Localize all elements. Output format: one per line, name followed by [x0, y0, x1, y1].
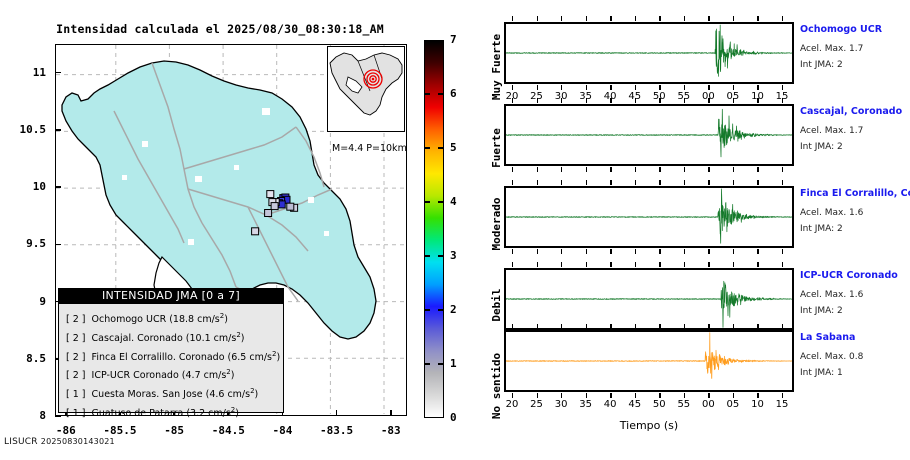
time-tick — [684, 262, 685, 267]
map-x-tick-label: -84.5 — [198, 424, 258, 437]
map-x-tick-label: -83.5 — [307, 424, 367, 437]
time-tick — [512, 262, 513, 267]
time-tick — [782, 262, 783, 267]
time-tick — [782, 167, 783, 172]
magnitude-depth-label: M=4.4 P=10km — [332, 143, 407, 154]
time-tick — [659, 324, 660, 329]
colorbar-category-label: Debil — [490, 288, 503, 321]
legend-jma-value: [ 2 ] — [66, 333, 86, 344]
time-tick — [586, 85, 587, 90]
legend-row: [ 1 ] Cuesta Moras. San Jose (4.6 cm/s2) — [59, 384, 283, 403]
map-y-tick-label: 8 — [0, 409, 46, 422]
legend-accel-value: (4.6 cm/s2) — [203, 389, 259, 400]
time-tick — [561, 16, 562, 21]
legend-station-name: Ochomogo UCR — [92, 314, 167, 325]
colorbar-tick-label: 2 — [450, 303, 464, 316]
legend-header: INTENSIDAD JMA [0 a 7] — [58, 288, 284, 304]
intensity-legend[interactable]: [ 2 ] Ochomogo UCR (18.8 cm/s2)[ 2 ] Cas… — [58, 303, 284, 413]
waveform-panel[interactable] — [504, 104, 794, 166]
colorbar-tick — [438, 309, 444, 310]
waveform-jma-intensity: Int JMA: 2 — [800, 142, 843, 152]
time-tick — [708, 393, 709, 398]
time-tick — [512, 249, 513, 254]
map-x-tick-label: -85.5 — [90, 424, 150, 437]
time-tick — [610, 167, 611, 172]
map-y-tick-label: 10.5 — [0, 123, 46, 136]
time-tick — [512, 167, 513, 172]
map-y-tick — [55, 244, 61, 246]
time-tick — [610, 262, 611, 267]
time-tick — [586, 98, 587, 103]
colorbar-tick — [424, 93, 430, 94]
waveform-jma-intensity: Int JMA: 1 — [800, 368, 843, 378]
time-tick — [659, 16, 660, 21]
legend-jma-value: [ 2 ] — [66, 370, 86, 381]
map-x-tick-label: -86 — [36, 424, 96, 437]
map-x-tick-label: -83 — [361, 424, 421, 437]
time-tick — [561, 85, 562, 90]
time-tick — [733, 167, 734, 172]
time-tick — [757, 167, 758, 172]
legend-row: [ 2 ] ICP-UCR Coronado (4.7 cm/s2) — [59, 365, 283, 384]
colorbar-category-label: Fuerte — [490, 128, 503, 168]
waveform-panel[interactable] — [504, 268, 794, 330]
time-tick — [512, 324, 513, 329]
time-tick — [733, 393, 734, 398]
time-tick — [757, 393, 758, 398]
time-tick — [512, 98, 513, 103]
time-tick — [586, 393, 587, 398]
legend-accel-value: (6.5 cm/s2) — [225, 352, 281, 363]
waveform-peak-acceleration: Acel. Max. 1.7 — [800, 126, 863, 136]
page-title: Intensidad calculada el 2025/08/30_08:30… — [0, 22, 440, 36]
time-tick — [733, 262, 734, 267]
time-tick — [708, 98, 709, 103]
colorbar-tick — [438, 363, 444, 364]
colorbar-tick — [424, 147, 430, 148]
time-tick — [561, 180, 562, 185]
colorbar-tick-label: 6 — [450, 87, 464, 100]
waveform-peak-acceleration: Acel. Max. 1.7 — [800, 44, 863, 54]
legend-station-name: ICP-UCR Coronado — [92, 370, 179, 381]
time-tick — [708, 249, 709, 254]
time-tick — [757, 98, 758, 103]
time-tick — [635, 262, 636, 267]
time-tick — [635, 167, 636, 172]
map-x-tick — [390, 410, 392, 416]
time-tick — [708, 262, 709, 267]
waveform-panel[interactable] — [504, 330, 794, 392]
legend-accel-value: (18.8 cm/s2) — [166, 314, 228, 325]
time-tick — [635, 98, 636, 103]
time-tick — [586, 262, 587, 267]
waveform-panel[interactable] — [504, 22, 794, 84]
time-tick — [684, 324, 685, 329]
map-y-tick — [55, 186, 61, 188]
time-tick — [635, 324, 636, 329]
time-tick — [659, 167, 660, 172]
waveform-station-name: Ochomogo UCR — [800, 24, 882, 35]
time-tick — [684, 85, 685, 90]
time-tick — [684, 393, 685, 398]
time-tick — [733, 85, 734, 90]
time-tick — [512, 393, 513, 398]
time-tick — [757, 85, 758, 90]
colorbar-tick-label: 0 — [450, 411, 464, 424]
time-tick — [586, 324, 587, 329]
time-tick — [610, 249, 611, 254]
time-tick — [733, 324, 734, 329]
time-tick — [610, 16, 611, 21]
colorbar-tick — [424, 255, 430, 256]
time-tick — [561, 324, 562, 329]
colorbar-tick-label: 3 — [450, 249, 464, 262]
colorbar-tick — [438, 147, 444, 148]
colorbar-tick-label: 5 — [450, 141, 464, 154]
time-tick — [635, 180, 636, 185]
time-tick — [635, 16, 636, 21]
time-tick — [561, 249, 562, 254]
waveform-station-name: Finca El Corralillo, Coro — [800, 188, 910, 199]
station-marker[interactable] — [267, 191, 274, 198]
time-tick — [586, 180, 587, 185]
time-tick — [635, 393, 636, 398]
footer-agency: LISUCR — [4, 437, 38, 447]
station-marker[interactable] — [252, 228, 259, 235]
time-tick — [757, 324, 758, 329]
waveform-trace — [506, 106, 792, 164]
waveform-trace — [506, 24, 792, 82]
colorbar-tick-label: 1 — [450, 357, 464, 370]
map-y-tick-label: 11 — [0, 66, 46, 79]
time-tick — [537, 16, 538, 21]
legend-row: [ 2 ] Cascajal. Coronado (10.1 cm/s2) — [59, 328, 283, 347]
time-tick — [733, 16, 734, 21]
legend-jma-value: [ 1 ] — [66, 408, 86, 419]
time-tick — [610, 393, 611, 398]
time-tick — [708, 167, 709, 172]
colorbar-tick — [424, 363, 430, 364]
time-tick — [733, 249, 734, 254]
time-tick — [610, 324, 611, 329]
time-tick — [684, 167, 685, 172]
time-tick — [782, 180, 783, 185]
time-tick — [782, 249, 783, 254]
time-tick — [512, 16, 513, 21]
time-tick — [708, 324, 709, 329]
time-tick — [659, 262, 660, 267]
time-tick — [659, 180, 660, 185]
map-y-tick-label: 8.5 — [0, 352, 46, 365]
station-marker[interactable] — [265, 210, 272, 217]
time-tick — [561, 167, 562, 172]
time-tick — [537, 393, 538, 398]
time-tick — [684, 98, 685, 103]
legend-station-name: Guatuso de Patarra — [92, 408, 184, 419]
time-tick — [757, 16, 758, 21]
time-tick — [635, 249, 636, 254]
waveform-trace — [506, 332, 792, 390]
time-tick — [561, 262, 562, 267]
time-tick — [537, 324, 538, 329]
legend-row: [ 2 ] Ochomogo UCR (18.8 cm/s2) — [59, 309, 283, 328]
time-tick — [537, 85, 538, 90]
time-tick — [708, 180, 709, 185]
time-tick — [537, 262, 538, 267]
time-tick — [659, 393, 660, 398]
legend-station-name: Cuesta Moras. San Jose — [92, 389, 203, 400]
time-tick — [610, 180, 611, 185]
waveform-station-name: Cascajal, Coronado — [800, 106, 902, 117]
legend-row: [ 2 ] Finca El Corralillo. Coronado (6.5… — [59, 347, 283, 366]
time-tick — [782, 98, 783, 103]
map-x-tick-label: -85 — [144, 424, 204, 437]
time-tick — [561, 98, 562, 103]
waveform-peak-acceleration: Acel. Max. 1.6 — [800, 208, 863, 218]
colorbar-tick — [438, 255, 444, 256]
time-tick — [684, 249, 685, 254]
time-tick — [733, 98, 734, 103]
station-marker[interactable] — [271, 203, 278, 210]
time-tick — [586, 16, 587, 21]
time-tick — [586, 249, 587, 254]
time-tick — [537, 249, 538, 254]
map-y-tick-label: 9.5 — [0, 237, 46, 250]
time-tick — [708, 85, 709, 90]
legend-jma-value: [ 2 ] — [66, 352, 86, 363]
time-tick — [610, 85, 611, 90]
locator-inset-map[interactable] — [327, 46, 405, 132]
legend-accel-value: (4.7 cm/s2) — [179, 370, 235, 381]
colorbar-tick-label: 7 — [450, 33, 464, 46]
time-tick — [561, 393, 562, 398]
time-tick — [782, 393, 783, 398]
legend-accel-value: (3.2 cm/s2) — [183, 408, 239, 419]
time-tick — [659, 249, 660, 254]
time-tick — [757, 262, 758, 267]
time-tick — [512, 180, 513, 185]
waveform-peak-acceleration: Acel. Max. 0.8 — [800, 352, 863, 362]
time-tick — [537, 98, 538, 103]
time-tick — [782, 16, 783, 21]
map-y-tick-label: 10 — [0, 180, 46, 193]
colorbar-category-label: Moderado — [490, 197, 503, 250]
time-tick — [659, 98, 660, 103]
waveform-jma-intensity: Int JMA: 2 — [800, 60, 843, 70]
time-tick — [782, 324, 783, 329]
legend-station-name: Cascajal. Coronado — [92, 333, 183, 344]
time-tick — [757, 180, 758, 185]
legend-jma-value: [ 2 ] — [66, 314, 86, 325]
time-tick — [708, 16, 709, 21]
waveform-jma-intensity: Int JMA: 2 — [800, 224, 843, 234]
time-tick — [684, 16, 685, 21]
map-y-tick — [55, 129, 61, 131]
time-tick — [733, 180, 734, 185]
station-marker[interactable] — [287, 203, 294, 210]
inset-graphic — [328, 47, 404, 131]
time-tick — [757, 249, 758, 254]
waveform-peak-acceleration: Acel. Max. 1.6 — [800, 290, 863, 300]
intensity-colorbar[interactable] — [424, 40, 444, 418]
time-tick — [512, 85, 513, 90]
footer-timestamp: 20250830143021 — [41, 437, 115, 446]
waveform-trace — [506, 188, 792, 246]
time-tick — [782, 85, 783, 90]
waveform-panel[interactable] — [504, 186, 794, 248]
colorbar-gradient — [425, 41, 443, 417]
time-tick — [537, 167, 538, 172]
colorbar-tick — [424, 201, 430, 202]
waveform-station-name: ICP-UCR Coronado — [800, 270, 898, 281]
colorbar-tick — [438, 93, 444, 94]
waveform-trace — [506, 270, 792, 328]
colorbar-tick-label: 4 — [450, 195, 464, 208]
time-tick — [610, 98, 611, 103]
time-tick — [537, 180, 538, 185]
map-y-tick-label: 9 — [0, 295, 46, 308]
legend-accel-value: (10.1 cm/s2) — [183, 333, 245, 344]
waveform-station-name: La Sabana — [800, 332, 855, 343]
time-tick-label: 15 — [762, 399, 802, 410]
time-axis-label: Tiempo (s) — [504, 419, 794, 432]
colorbar-tick — [438, 201, 444, 202]
waveform-jma-intensity: Int JMA: 2 — [800, 306, 843, 316]
footer-credit: LISUCR 20250830143021 — [4, 437, 115, 447]
map-x-tick — [336, 410, 338, 416]
legend-station-name: Finca El Corralillo. Coronado — [92, 352, 225, 363]
colorbar-tick — [424, 309, 430, 310]
map-x-tick-label: -84 — [252, 424, 312, 437]
time-tick — [586, 167, 587, 172]
time-tick — [635, 85, 636, 90]
legend-row: [ 1 ] Guatuso de Patarra (3.2 cm/s2) — [59, 403, 283, 422]
time-tick — [659, 85, 660, 90]
legend-jma-value: [ 1 ] — [66, 389, 86, 400]
map-y-tick — [55, 72, 61, 74]
time-tick — [684, 180, 685, 185]
